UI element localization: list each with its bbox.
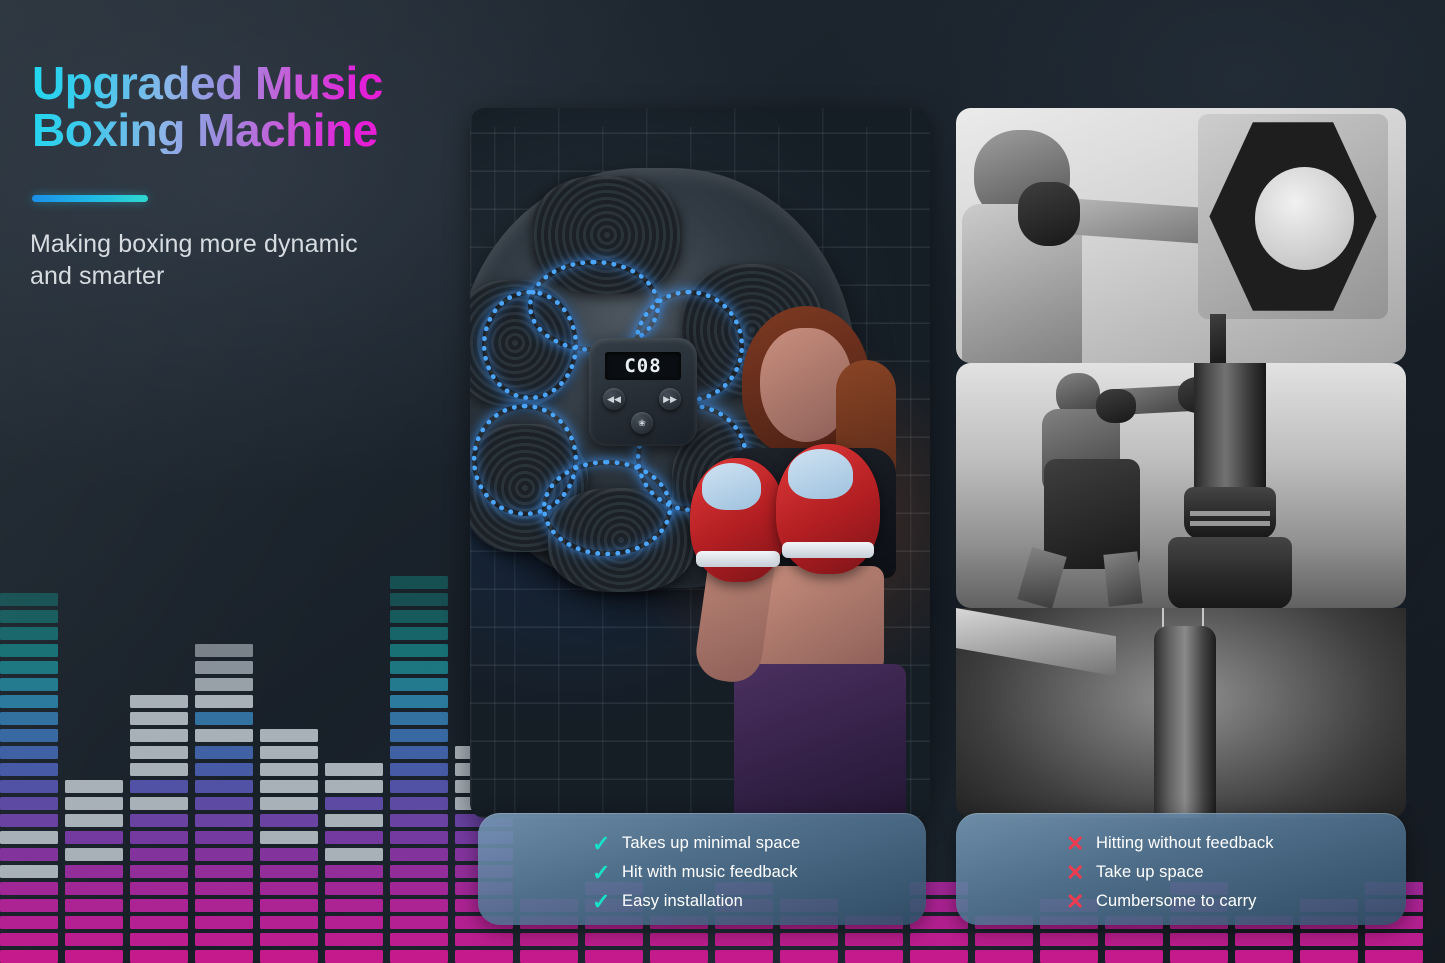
equalizer-segment [715, 933, 773, 946]
equalizer-segment [325, 763, 383, 776]
equalizer-segment [130, 695, 188, 708]
equalizer-segment [520, 933, 578, 946]
equalizer-segment [130, 763, 188, 776]
equalizer-segment [975, 950, 1033, 963]
equalizer-segment [325, 831, 383, 844]
boxer-shorts [734, 664, 906, 818]
equalizer-segment [130, 746, 188, 759]
control-hub: C08 ◀◀ ▶▶ ❀ [589, 338, 697, 446]
equalizer-segment [325, 916, 383, 929]
equalizer-segment [260, 797, 318, 810]
equalizer-segment [325, 899, 383, 912]
equalizer-segment [260, 780, 318, 793]
equalizer-segment [195, 865, 253, 878]
equalizer-segment [0, 950, 58, 963]
equalizer-segment [130, 712, 188, 725]
equalizer-segment [390, 797, 448, 810]
equalizer-segment [260, 729, 318, 742]
pros-item-2: Hit with music feedback [622, 863, 798, 882]
equalizer-segment [1105, 950, 1163, 963]
equalizer-segment [195, 814, 253, 827]
page-subtitle: Making boxing more dynamic and smarter [30, 228, 360, 292]
glove-accent-right [788, 449, 852, 498]
page-title: Upgraded Music Boxing Machine [32, 60, 432, 154]
equalizer-segment [195, 831, 253, 844]
equalizer-segment [195, 797, 253, 810]
equalizer-segment [455, 950, 513, 963]
equalizer-segment [325, 814, 383, 827]
boxing-glove-left [690, 458, 786, 582]
equalizer-segment [390, 712, 448, 725]
bluetooth-icon[interactable]: ❀ [631, 412, 653, 434]
equalizer-column [0, 589, 58, 963]
equalizer-segment [520, 950, 578, 963]
equalizer-segment [195, 712, 253, 725]
equalizer-segment [1105, 933, 1163, 946]
cross-icon: ✕ [1066, 833, 1096, 855]
boxing-glove-right [776, 444, 880, 574]
cons-item-3: Cumbersome to carry [1096, 892, 1257, 911]
pros-item-3: Easy installation [622, 892, 743, 911]
equalizer-segment [325, 780, 383, 793]
photo-content-r1 [956, 108, 1406, 363]
r2-bag-stand [1168, 537, 1292, 608]
r2-rear-leg [1017, 547, 1066, 608]
check-icon: ✓ [592, 862, 622, 884]
prev-track-button[interactable]: ◀◀ [603, 388, 625, 410]
equalizer-segment [260, 916, 318, 929]
equalizer-segment [585, 950, 643, 963]
equalizer-segment [1235, 950, 1293, 963]
r3-ceiling-beam [956, 608, 1116, 676]
equalizer-segment [195, 916, 253, 929]
equalizer-segment [0, 797, 58, 810]
pros-row-1: ✓ Takes up minimal space [478, 829, 926, 858]
equalizer-segment [260, 848, 318, 861]
equalizer-segment [390, 933, 448, 946]
equalizer-segment [0, 610, 58, 623]
r1-target-post [1210, 314, 1226, 363]
equalizer-segment [130, 814, 188, 827]
equalizer-segment [0, 831, 58, 844]
equalizer-segment [65, 831, 123, 844]
photo-hanging-heavy-bag [956, 608, 1406, 818]
equalizer-segment [390, 831, 448, 844]
equalizer-segment [0, 916, 58, 929]
equalizer-segment [65, 916, 123, 929]
equalizer-segment [390, 882, 448, 895]
cross-icon: ✕ [1066, 862, 1096, 884]
equalizer-column [325, 759, 383, 963]
equalizer-segment [0, 593, 58, 606]
equalizer-segment [325, 882, 383, 895]
equalizer-segment [910, 950, 968, 963]
equalizer-segment [195, 678, 253, 691]
equalizer-segment [390, 593, 448, 606]
equalizer-segment [65, 933, 123, 946]
equalizer-segment [65, 848, 123, 861]
photo-content-r2 [956, 363, 1406, 608]
equalizer-segment [130, 916, 188, 929]
equalizer-segment [0, 865, 58, 878]
photo-boxer-freestanding-bag [956, 363, 1406, 608]
equalizer-segment [0, 780, 58, 793]
equalizer-segment [0, 712, 58, 725]
r2-front-leg [1103, 551, 1142, 606]
equalizer-segment [130, 882, 188, 895]
equalizer-segment [325, 848, 383, 861]
equalizer-segment [130, 865, 188, 878]
title-line-1: Upgraded Music [32, 57, 383, 109]
equalizer-segment [195, 933, 253, 946]
target-bullseye [1255, 167, 1354, 270]
equalizer-segment [715, 950, 773, 963]
equalizer-segment [65, 882, 123, 895]
glove-strap-left [696, 551, 780, 567]
accent-divider [32, 195, 148, 202]
lcd-display: C08 [605, 352, 681, 380]
equalizer-segment [845, 933, 903, 946]
cons-row-2: ✕ Take up space [956, 858, 1406, 887]
next-track-button[interactable]: ▶▶ [659, 388, 681, 410]
cons-panel: ✕ Hitting without feedback ✕ Take up spa… [956, 813, 1406, 925]
equalizer-segment [650, 950, 708, 963]
equalizer-segment [780, 950, 838, 963]
equalizer-segment [65, 814, 123, 827]
equalizer-segment [390, 678, 448, 691]
equalizer-segment [390, 780, 448, 793]
pros-row-3: ✓ Easy installation [478, 887, 926, 916]
equalizer-segment [260, 814, 318, 827]
equalizer-segment [325, 865, 383, 878]
equalizer-segment [130, 933, 188, 946]
equalizer-segment [260, 763, 318, 776]
equalizer-segment [780, 933, 838, 946]
equalizer-segment [1040, 933, 1098, 946]
r2-bag-ring-1 [1190, 511, 1270, 516]
pros-item-1: Takes up minimal space [622, 834, 800, 853]
cross-icon: ✕ [1066, 891, 1096, 913]
equalizer-segment [585, 933, 643, 946]
equalizer-segment [0, 695, 58, 708]
equalizer-segment [195, 729, 253, 742]
equalizer-segment [0, 661, 58, 674]
led-ring-upper-left [482, 290, 578, 400]
equalizer-segment [975, 933, 1033, 946]
equalizer-segment [65, 865, 123, 878]
pros-row-2: ✓ Hit with music feedback [478, 858, 926, 887]
equalizer-column [195, 640, 253, 963]
equalizer-segment [390, 610, 448, 623]
equalizer-segment [195, 899, 253, 912]
equalizer-segment [390, 729, 448, 742]
equalizer-segment [390, 899, 448, 912]
cons-row-1: ✕ Hitting without feedback [956, 829, 1406, 858]
equalizer-segment [130, 831, 188, 844]
equalizer-segment [390, 865, 448, 878]
equalizer-segment [0, 848, 58, 861]
equalizer-segment [455, 933, 513, 946]
led-ring-bottom [542, 460, 672, 556]
cons-row-3: ✕ Cumbersome to carry [956, 887, 1406, 916]
equalizer-segment [1040, 950, 1098, 963]
equalizer-segment [65, 797, 123, 810]
equalizer-segment [390, 848, 448, 861]
equalizer-segment [390, 916, 448, 929]
equalizer-segment [325, 797, 383, 810]
glove-accent-left [702, 463, 762, 510]
equalizer-segment [260, 950, 318, 963]
photo-boxer-target-pad [956, 108, 1406, 363]
equalizer-column [65, 776, 123, 963]
square-target-pad [1198, 114, 1388, 319]
r3-heavy-bag [1154, 626, 1216, 818]
equalizer-segment [195, 882, 253, 895]
equalizer-segment [1170, 950, 1228, 963]
equalizer-segment [1300, 933, 1358, 946]
equalizer-segment [130, 950, 188, 963]
equalizer-segment [130, 729, 188, 742]
equalizer-segment [390, 627, 448, 640]
equalizer-segment [1235, 933, 1293, 946]
equalizer-segment [0, 882, 58, 895]
equalizer-segment [325, 933, 383, 946]
r2-bag-ring-2 [1190, 521, 1270, 526]
photo-content-r3 [956, 608, 1406, 818]
equalizer-segment [0, 899, 58, 912]
pros-panel: ✓ Takes up minimal space ✓ Hit with musi… [478, 813, 926, 925]
equalizer-segment [0, 763, 58, 776]
cons-item-1: Hitting without feedback [1096, 834, 1274, 853]
equalizer-segment [260, 831, 318, 844]
equalizer-segment [910, 933, 968, 946]
equalizer-segment [260, 865, 318, 878]
equalizer-segment [845, 950, 903, 963]
equalizer-segment [260, 933, 318, 946]
equalizer-segment [0, 678, 58, 691]
photo-music-boxing-machine: C08 ◀◀ ▶▶ ❀ [470, 108, 930, 818]
equalizer-segment [650, 933, 708, 946]
equalizer-segment [0, 627, 58, 640]
equalizer-segment [390, 661, 448, 674]
equalizer-segment [130, 797, 188, 810]
r1-glove-guard [1018, 182, 1080, 246]
equalizer-segment [1365, 933, 1423, 946]
equalizer-segment [0, 933, 58, 946]
equalizer-column [390, 572, 448, 963]
glove-strap-right [782, 542, 874, 559]
equalizer-segment [65, 950, 123, 963]
equalizer-segment [1170, 933, 1228, 946]
equalizer-segment [195, 661, 253, 674]
equalizer-segment [1365, 950, 1423, 963]
equalizer-segment [130, 780, 188, 793]
female-boxer-subject [686, 298, 930, 818]
equalizer-segment [325, 950, 383, 963]
equalizer-segment [195, 950, 253, 963]
equalizer-segment [130, 899, 188, 912]
equalizer-segment [65, 899, 123, 912]
equalizer-segment [195, 848, 253, 861]
cons-item-2: Take up space [1096, 863, 1204, 882]
equalizer-segment [390, 763, 448, 776]
equalizer-segment [195, 746, 253, 759]
equalizer-segment [260, 882, 318, 895]
equalizer-segment [260, 746, 318, 759]
equalizer-segment [195, 644, 253, 657]
equalizer-segment [0, 746, 58, 759]
equalizer-segment [195, 695, 253, 708]
equalizer-segment [260, 899, 318, 912]
equalizer-segment [390, 695, 448, 708]
equalizer-segment [390, 576, 448, 589]
equalizer-column [260, 725, 318, 963]
equalizer-segment [1300, 950, 1358, 963]
equalizer-segment [0, 644, 58, 657]
equalizer-segment [0, 729, 58, 742]
equalizer-segment [195, 763, 253, 776]
equalizer-segment [390, 746, 448, 759]
equalizer-segment [195, 780, 253, 793]
r2-guard-glove [1096, 389, 1136, 423]
title-line-2: Boxing Machine [32, 107, 432, 154]
equalizer-segment [65, 780, 123, 793]
equalizer-segment [390, 950, 448, 963]
check-icon: ✓ [592, 833, 622, 855]
equalizer-segment [390, 814, 448, 827]
equalizer-segment [0, 814, 58, 827]
equalizer-segment [390, 644, 448, 657]
equalizer-column [130, 691, 188, 963]
check-icon: ✓ [592, 891, 622, 913]
equalizer-segment [130, 848, 188, 861]
r2-bag-column [1194, 363, 1266, 491]
